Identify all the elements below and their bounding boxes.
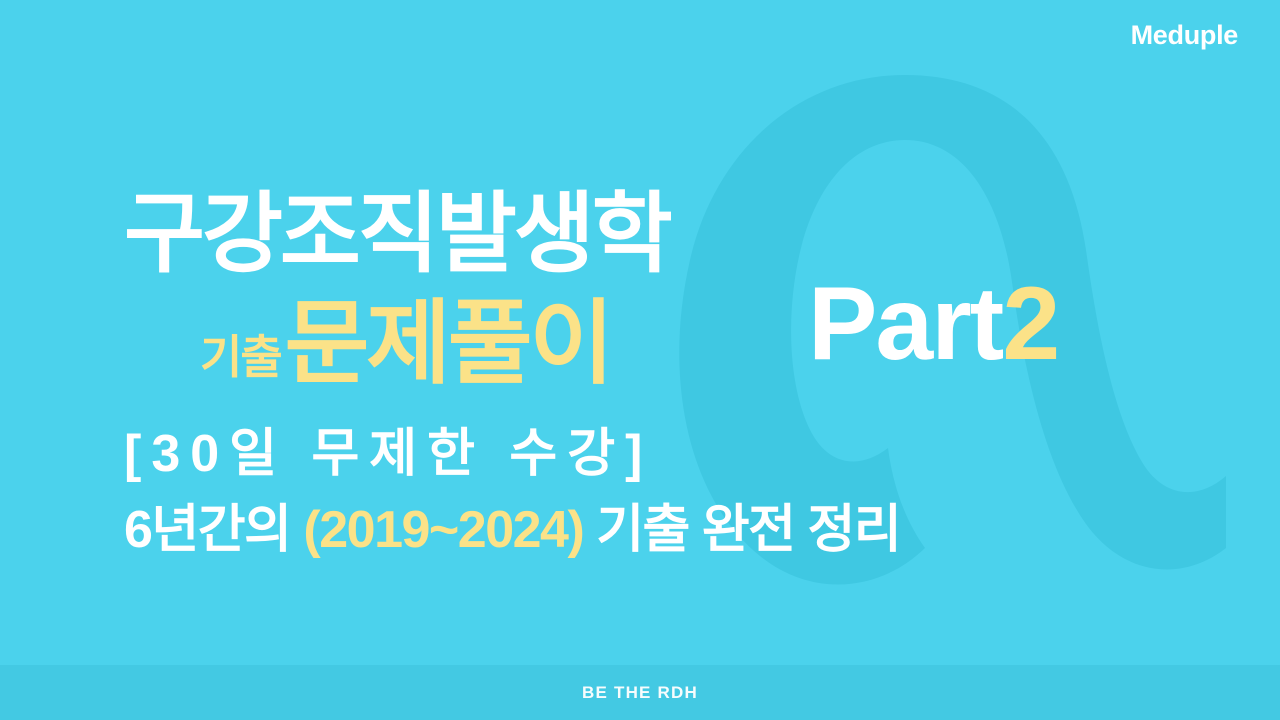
part-badge: Part2	[808, 272, 1058, 376]
access-period-line: [30일 무제한 수강]	[124, 428, 641, 480]
part-label: Part	[808, 266, 1002, 382]
coverage-suffix: 기출 완전 정리	[596, 501, 900, 559]
coverage-line: 6년간의 (2019~2024) 기출 완전 정리	[124, 504, 900, 556]
headline-group: 구강조직발생학 기출문제풀이 Part2 [30일 무제한 수강] 6년간의 (…	[0, 0, 1280, 720]
access-period-text: 30일 무제한 수강	[151, 425, 625, 483]
course-subject-title: 구강조직발생학	[124, 190, 670, 278]
footer-tagline: BE THE RDH	[582, 683, 698, 703]
coverage-prefix: 6년간의	[124, 501, 290, 559]
bracket-open: [	[124, 425, 151, 483]
part-number: 2	[1002, 266, 1058, 382]
bracket-close: ]	[625, 425, 641, 483]
course-type-title: 기출문제풀이	[200, 298, 611, 390]
problem-solving-label: 문제풀이	[285, 293, 612, 395]
past-exam-label: 기출	[200, 331, 281, 383]
footer-band: BE THE RDH	[0, 665, 1280, 720]
course-banner: Meduple 구강조직발생학 기출문제풀이 Part2 [30일 무제한 수강…	[0, 0, 1280, 720]
coverage-year-range: (2019~2024)	[303, 501, 583, 559]
